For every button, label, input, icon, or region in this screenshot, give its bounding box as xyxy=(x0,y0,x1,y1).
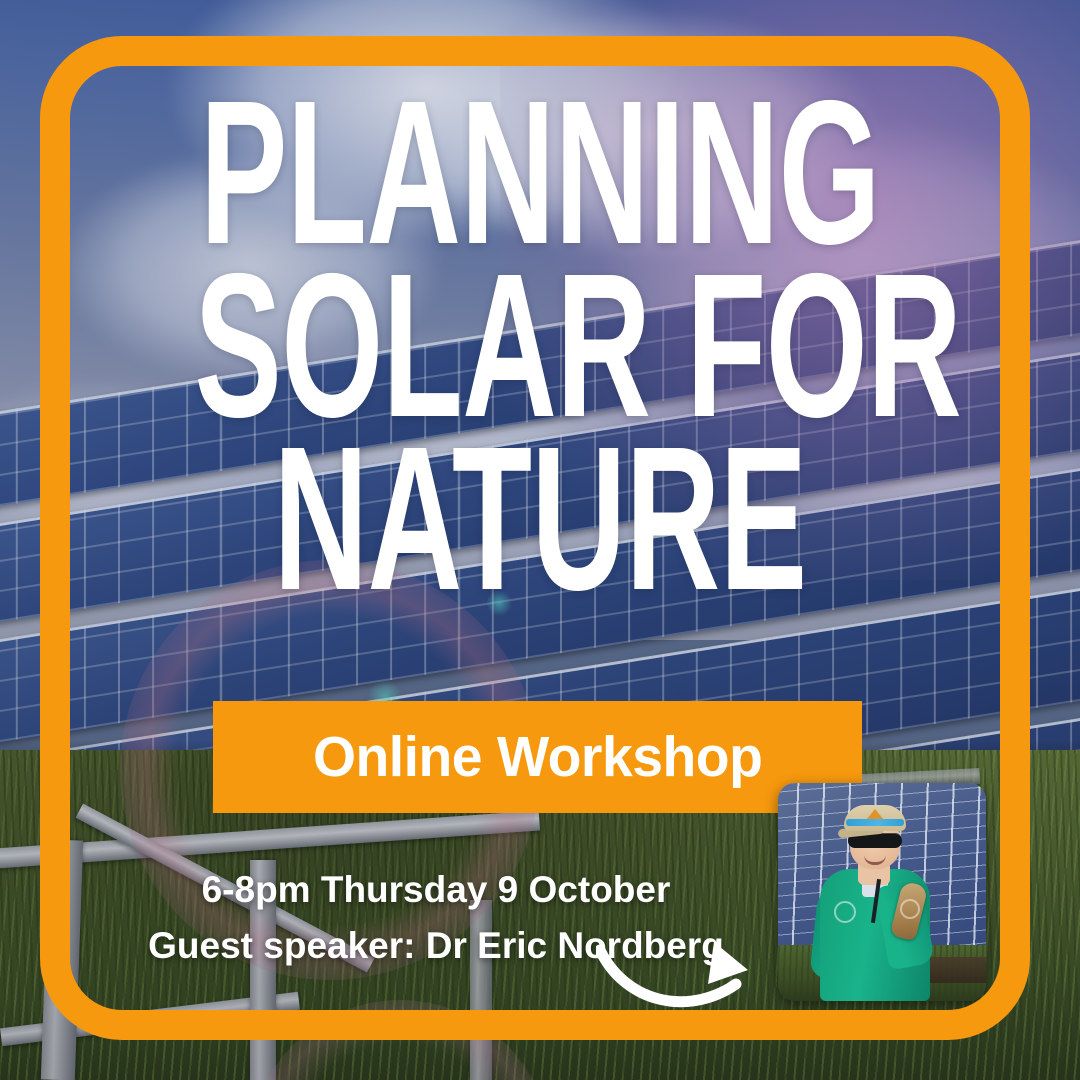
speaker-photo xyxy=(778,783,986,1001)
photo-shirt-badge xyxy=(900,899,920,919)
online-workshop-banner: Online Workshop xyxy=(213,701,862,813)
guest-speaker-line: Guest speaker: Dr Eric Nordberg xyxy=(96,918,776,974)
photo-shirt-badge xyxy=(834,901,856,923)
poster: PLANNING SOLAR FOR NATURE Online Worksho… xyxy=(0,0,1080,1080)
headline-line-3: NATURE xyxy=(194,432,885,605)
event-time-date: 6-8pm Thursday 9 October xyxy=(96,862,776,918)
event-details: 6-8pm Thursday 9 October Guest speaker: … xyxy=(96,862,776,974)
photo-cap-stripe xyxy=(846,819,904,826)
banner-label: Online Workshop xyxy=(313,724,762,790)
page-title: PLANNING SOLAR FOR NATURE xyxy=(194,86,885,606)
